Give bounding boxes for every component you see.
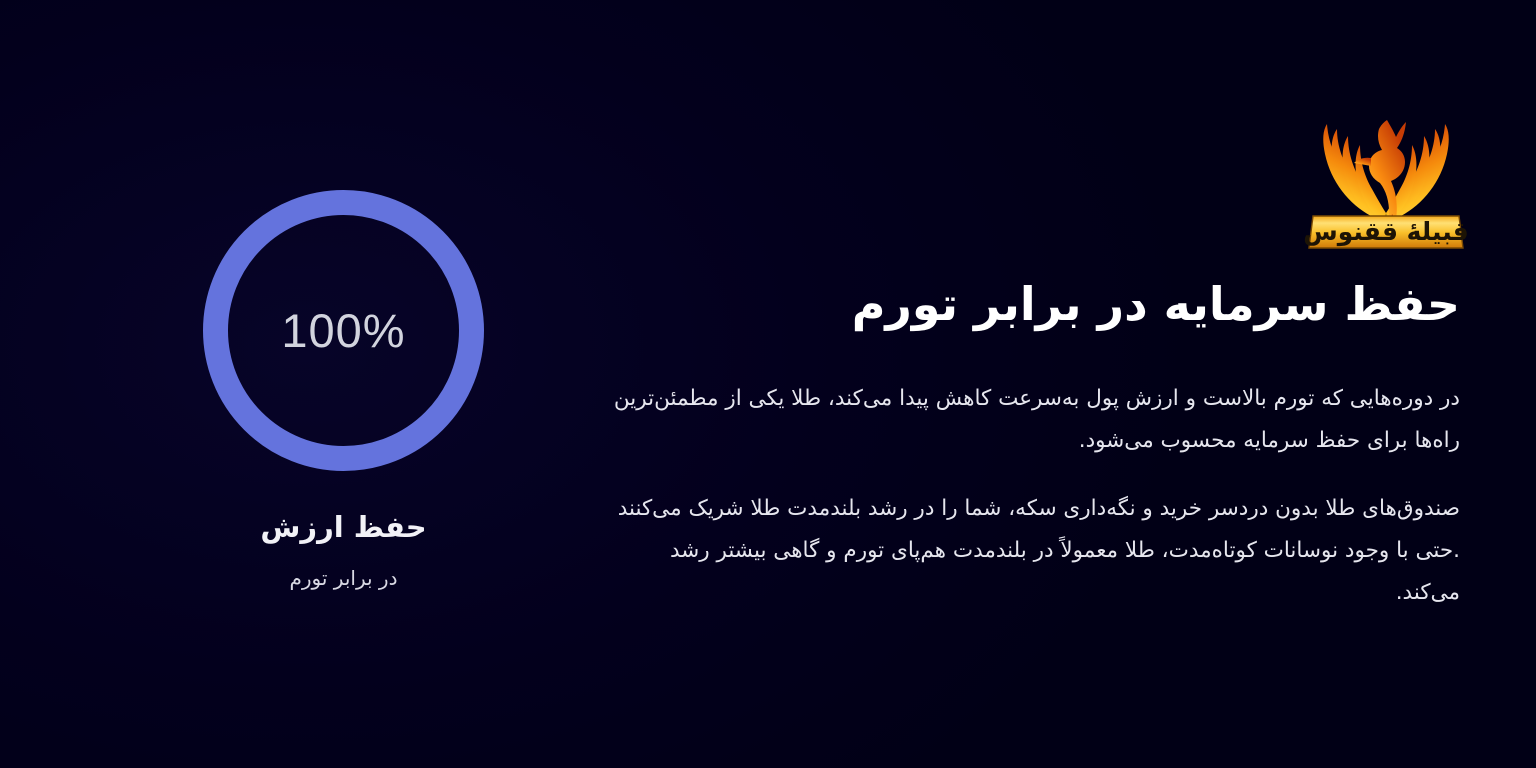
logo-badge-text: قبیلۀ ققنوس <box>1303 217 1469 247</box>
content-column: حفظ سرمایه در برابر تورم در دوره‌هایی که… <box>600 276 1460 614</box>
progress-ring-graphic <box>203 190 484 471</box>
stat-caption: حفظ ارزش <box>203 509 484 545</box>
progress-ring-fill <box>216 203 472 459</box>
page-title: حفظ سرمایه در برابر تورم <box>600 276 1460 332</box>
stat-subcaption: در برابر تورم <box>203 565 484 591</box>
logo-badge: قبیلۀ ققنوس <box>1303 216 1469 248</box>
progress-ring: 100% <box>203 190 484 471</box>
page-background: قبیلۀ ققنوس حفظ سرمایه در برابر تورم در … <box>0 0 1536 768</box>
body-paragraph-1: در دوره‌هایی که تورم بالاست و ارزش پول ب… <box>600 378 1460 462</box>
body-paragraph-2: صندوق‌های طلا بدون دردسر خرید و نگه‌داری… <box>600 488 1460 614</box>
value-preservation-stat: 100% حفظ ارزش در برابر تورم <box>203 190 484 591</box>
phoenix-flame-icon: قبیلۀ ققنوس <box>1301 96 1471 256</box>
phoenix-tribe-logo: قبیلۀ ققنوس <box>1301 96 1471 256</box>
